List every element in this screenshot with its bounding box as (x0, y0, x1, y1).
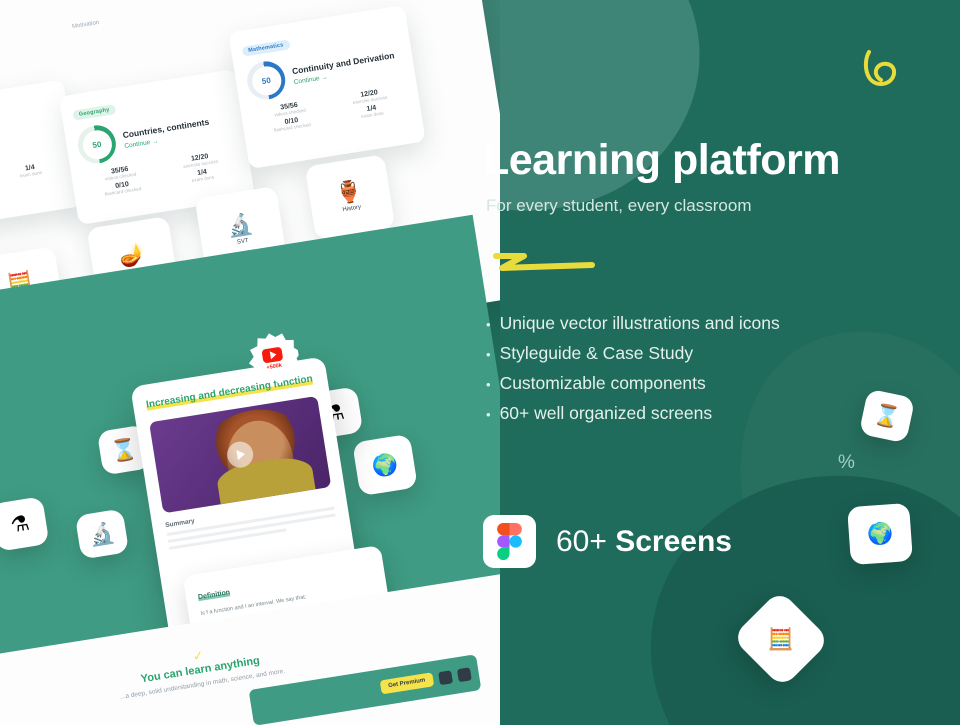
calculator-icon: 🧮 (768, 629, 794, 650)
floating-tile-hourglass-right[interactable]: ⌛ (859, 389, 916, 444)
list-item-label: Styleguide & Case Study (500, 343, 694, 364)
hero-content: Learning platform For every student, eve… (483, 0, 960, 725)
percent-decoration: % (838, 452, 855, 474)
microscope-icon: 🔬 (226, 213, 255, 238)
subject-tile-history[interactable]: 🏺 History (305, 154, 396, 240)
vase-icon: 🏺 (335, 180, 364, 205)
artwork-panel: Motivation 50 ...and 12/20exercise succe… (0, 0, 500, 725)
page-title: Learning platform (483, 136, 840, 185)
floating-tile-flask-left[interactable]: ⚗ (0, 496, 49, 552)
list-item-label: Unique vector illustrations and icons (500, 313, 780, 334)
bullet-icon: • (486, 407, 491, 422)
progress-ring: 50 (244, 59, 287, 102)
list-item: •Unique vector illustrations and icons (486, 313, 780, 334)
progress-value: 50 (250, 64, 283, 97)
progress-value: 50 (80, 128, 113, 161)
floating-tile-microscope[interactable]: 🔬 (75, 509, 129, 560)
microscope-icon: 🔬 (87, 522, 116, 547)
course-card[interactable]: Mathematics 50 Continuity and Derivation… (228, 5, 425, 169)
bullet-icon: • (486, 377, 491, 392)
subject-label: SVT (237, 238, 249, 246)
list-item-label: Customizable components (500, 373, 706, 394)
floating-tile-globe[interactable]: 🌍 (352, 434, 418, 496)
get-premium-button[interactable]: Get Premium (379, 672, 434, 694)
yellow-squiggle-icon (488, 250, 598, 276)
subject-label: History (342, 204, 361, 213)
flask-icon: ⚗ (9, 512, 31, 536)
globe-icon: 🌍 (866, 523, 894, 546)
avatar[interactable] (438, 670, 453, 685)
course-stats: 12/20exercise success 1/4exam done (0, 159, 66, 194)
definition-label: Definition (198, 589, 231, 601)
hourglass-icon: ⌛ (109, 438, 138, 463)
yellow-cursive-e-icon (855, 40, 915, 100)
screens-count: 60+ (556, 525, 607, 558)
feature-list: •Unique vector illustrations and icons •… (486, 313, 780, 433)
screens-label-text: Screens (615, 525, 732, 558)
globe-icon: 🌍 (370, 453, 399, 478)
avatar[interactable] (457, 667, 472, 682)
hourglass-icon: ⌛ (872, 403, 902, 429)
floating-tile-globe-right[interactable]: 🌍 (847, 503, 913, 565)
progress-ring: 50 (75, 123, 118, 166)
youtube-count: +500k (266, 363, 282, 371)
course-tag: Geography (72, 104, 116, 121)
screens-badge: 60+ Screens (483, 515, 732, 568)
lamp-icon: 🪔 (118, 243, 147, 268)
figma-logo-icon (483, 515, 536, 568)
list-item: •60+ well organized screens (486, 403, 780, 424)
bullet-icon: • (486, 347, 491, 362)
youtube-icon (261, 347, 283, 364)
list-item-label: 60+ well organized screens (500, 403, 713, 424)
bullet-icon: • (486, 317, 491, 332)
screens-text: 60+ Screens (556, 525, 732, 559)
page-subtitle: For every student, every classroom (486, 196, 751, 216)
list-item: •Customizable components (486, 373, 780, 394)
poster-stage: Motivation 50 ...and 12/20exercise succe… (0, 0, 960, 725)
floating-tile-calculator-right[interactable]: 🧮 (732, 590, 831, 689)
lesson-video-thumbnail[interactable] (149, 396, 331, 513)
list-item: •Styleguide & Case Study (486, 343, 780, 364)
course-tag: Mathematics (242, 39, 291, 56)
